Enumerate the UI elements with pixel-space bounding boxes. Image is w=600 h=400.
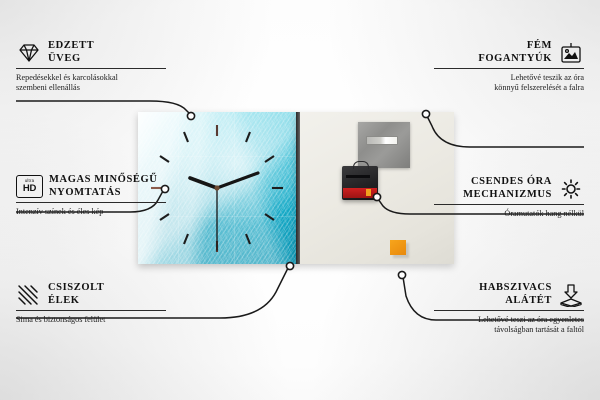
hanger-slot [366,136,398,145]
foam-pad [390,240,406,255]
mechanism-hook [353,161,369,169]
feature-foam-pad: HABSZIVACS ALÁTÉT Lehetővé teszi az óra … [434,282,584,336]
feature-desc-line1: Lehetővé teszi az óra egyenletes [434,315,584,325]
feature-desc-line1: Intenzív színek és éles kép [16,207,166,217]
feature-desc-line2: könnyű felszerelését a falra [434,83,584,93]
ultra-hd-large-text: HD [23,184,36,194]
feature-divider [16,310,166,311]
feature-divider [434,68,584,69]
feature-title-line1: MAGAS MINŐSÉGŰ [49,174,157,187]
feature-title-line2: NYOMTATÁS [49,187,157,200]
feature-divider [16,202,166,203]
glass-edge [296,112,300,264]
feature-desc-line1: Sima és biztonságos felület [16,315,166,325]
feature-divider [434,204,584,205]
feature-title-line2: ALÁTÉT [479,295,552,308]
feature-desc-line2: távolságban tartását a faltól [434,325,584,335]
mechanism-label [343,188,377,198]
feature-title-line1: FÉM [478,40,552,53]
feature-title-line2: FOGANTYÚK [478,53,552,66]
clock-back-photo [296,112,454,264]
infographic-canvas: EDZETT ÜVEG Repedésekkel és karcolásokka… [0,0,600,400]
feature-divider [434,310,584,311]
picture-hanger-icon [558,41,584,65]
feature-title-line1: CSENDES ÓRA [463,176,552,189]
feature-high-quality-print: ultra HD MAGAS MINŐSÉGŰ NYOMTATÁS Intenz… [16,174,166,217]
foam-pad-arrow-icon [558,283,584,307]
diamond-icon [16,41,42,65]
gear-icon [558,177,584,201]
feature-title-line1: CSISZOLT [48,282,104,295]
feature-desc-line1: Repedésekkel és karcolásokkal [16,73,166,83]
polished-edge-icon [16,283,42,307]
feature-title-line1: HABSZIVACS [479,282,552,295]
ultra-hd-icon: ultra HD [16,175,43,198]
feature-desc-line1: Lehetővé teszik az óra [434,73,584,83]
mechanism-slit [346,175,370,178]
feature-desc-line2: szembeni ellenállás [16,83,166,93]
feature-metal-handles: FÉM FOGANTYÚK Lehetővé teszik az óra kön… [434,40,584,94]
feature-title-line2: ÜVEG [48,53,94,66]
feature-title-line2: MECHANIZMUS [463,189,552,202]
feature-divider [16,68,166,69]
feature-desc-line1: Óramutatók hang nélkül [434,209,584,219]
feature-title-line1: EDZETT [48,40,94,53]
feature-title-line2: ÉLEK [48,295,104,308]
feature-polished-edges: CSISZOLT ÉLEK Sima és biztonságos felüle… [16,282,166,325]
feature-silent-mechanism: CSENDES ÓRA MECHANIZMUS Óramutatók hang … [434,176,584,219]
clock-mechanism [342,166,378,200]
feature-tempered-glass: EDZETT ÜVEG Repedésekkel és karcolásokka… [16,40,166,94]
